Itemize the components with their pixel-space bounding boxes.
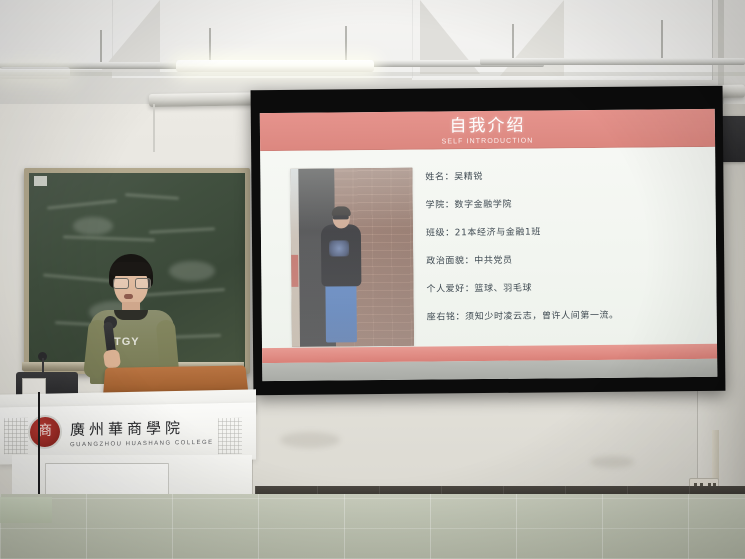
screen-pull-cord[interactable] <box>153 104 155 152</box>
light-rail <box>480 58 745 65</box>
light-hanger <box>345 26 347 64</box>
floor <box>0 494 745 559</box>
presenter-fringe <box>110 262 152 276</box>
slide-footer-gray-band <box>262 359 717 381</box>
podium-speaker-grille-left <box>4 418 28 454</box>
slide-info-line: 姓名：吴精锐 <box>425 169 705 184</box>
podium-speaker-grille-right <box>218 418 242 454</box>
fluorescent-tube-light <box>176 60 374 72</box>
slide-info-list: 姓名：吴精锐 学院：数字金融学院 班级：21本经济与金融1班 政治面貌：中共党员… <box>425 169 706 324</box>
slide-info-line: 班级：21本经济与金融1班 <box>426 225 706 240</box>
presenter-collar <box>114 310 148 320</box>
slide-photo <box>290 168 414 347</box>
shirt-print-text: TGY <box>114 336 158 366</box>
slide-info-line: 座右铭：须知少时凌云志，曾许人间第一流。 <box>427 309 707 324</box>
presenter: TGY <box>84 254 180 384</box>
projection-screen: 自我介绍 SELF INTRODUCTION <box>251 86 726 396</box>
classroom-scene: 自我介绍 SELF INTRODUCTION <box>0 0 745 559</box>
slide-info-line: 政治面貌：中共党员 <box>426 253 706 268</box>
presenter-hand <box>103 349 121 369</box>
school-name-zh: 廣州華商學院 <box>70 418 184 440</box>
floor-object <box>0 497 52 523</box>
slide-info-line: 个人爱好：篮球、羽毛球 <box>426 281 706 296</box>
gooseneck-mic-stand <box>42 358 44 376</box>
light-hanger <box>209 28 211 64</box>
fluorescent-tube-light <box>0 67 70 79</box>
slide-body: 姓名：吴精锐 学院：数字金融学院 班级：21本经济与金融1班 政治面貌：中共党员… <box>260 147 717 353</box>
slide-header: 自我介绍 SELF INTRODUCTION <box>260 109 715 151</box>
board-notice <box>34 176 47 186</box>
presenter-mouth <box>124 294 133 299</box>
presentation-slide: 自我介绍 SELF INTRODUCTION <box>260 109 718 381</box>
light-hanger <box>100 30 102 66</box>
slide-info-line: 学院：数字金融学院 <box>426 197 706 212</box>
glasses-icon <box>113 278 149 287</box>
